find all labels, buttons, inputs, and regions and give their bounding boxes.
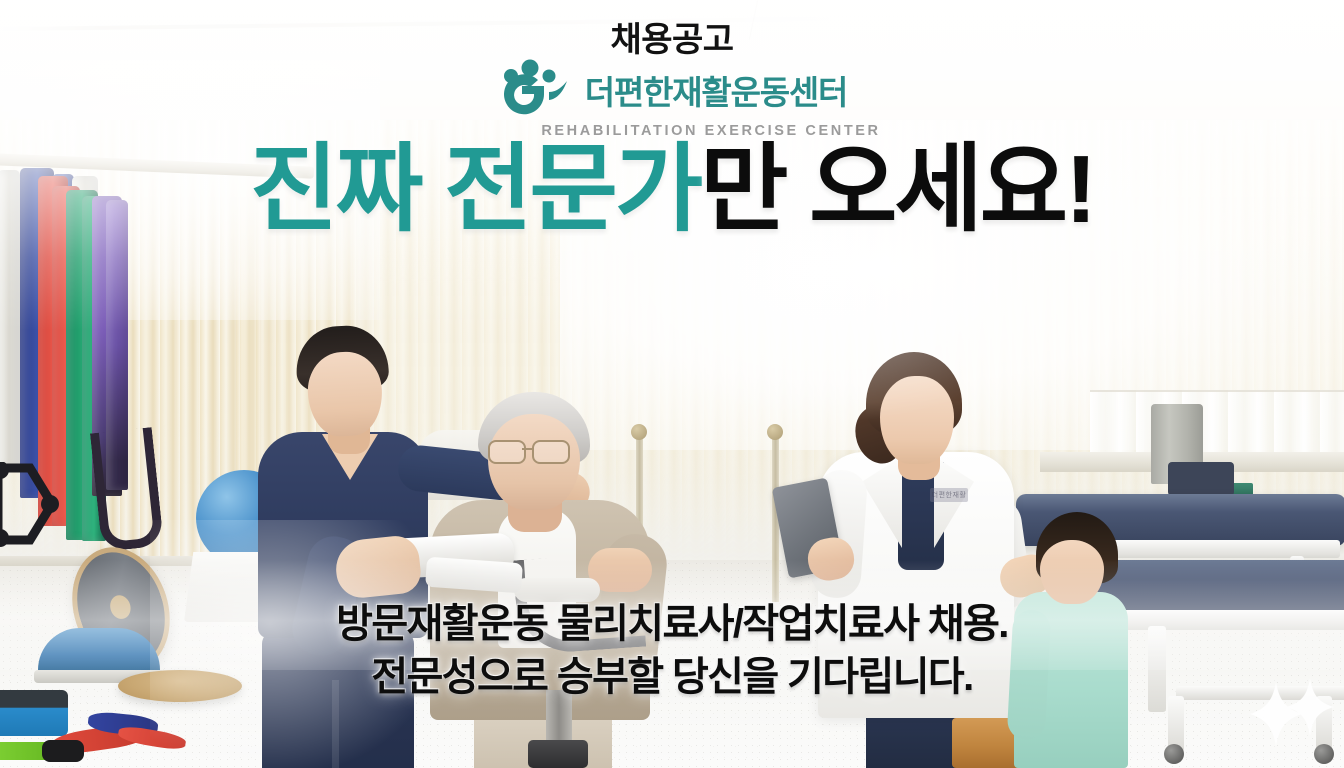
tagline-block: 방문재활운동 물리치료사/작업치료사 채용. 전문성으로 승부할 당신을 기다립… <box>0 598 1344 704</box>
brand-name-korean: 더편한재활운동센터 <box>585 66 847 114</box>
brand-row: 더편한재활운동센터 <box>497 58 847 122</box>
recruitment-eyebrow-label: 채용공고 <box>0 12 1344 61</box>
rehab-center-logo-icon <box>497 58 573 122</box>
headline-accent-part: 진짜 전문가 <box>250 136 700 243</box>
headline-dark-part: 만 오세요! <box>700 136 1094 243</box>
headline: 진짜 전문가만 오세요! <box>0 138 1344 242</box>
tagline-line-2: 전문성으로 승부할 당신을 기다립니다. <box>0 651 1344 704</box>
poster-text-overlay: 채용공고 더편한재활운동센터 REHABILITA <box>0 0 1344 768</box>
brand-lockup: 더편한재활운동센터 REHABILITATION EXERCISE CENTER <box>0 58 1344 139</box>
tagline-line-1: 방문재활운동 물리치료사/작업치료사 채용. <box>0 598 1344 651</box>
recruitment-poster: 더편한재활 <box>0 0 1344 768</box>
